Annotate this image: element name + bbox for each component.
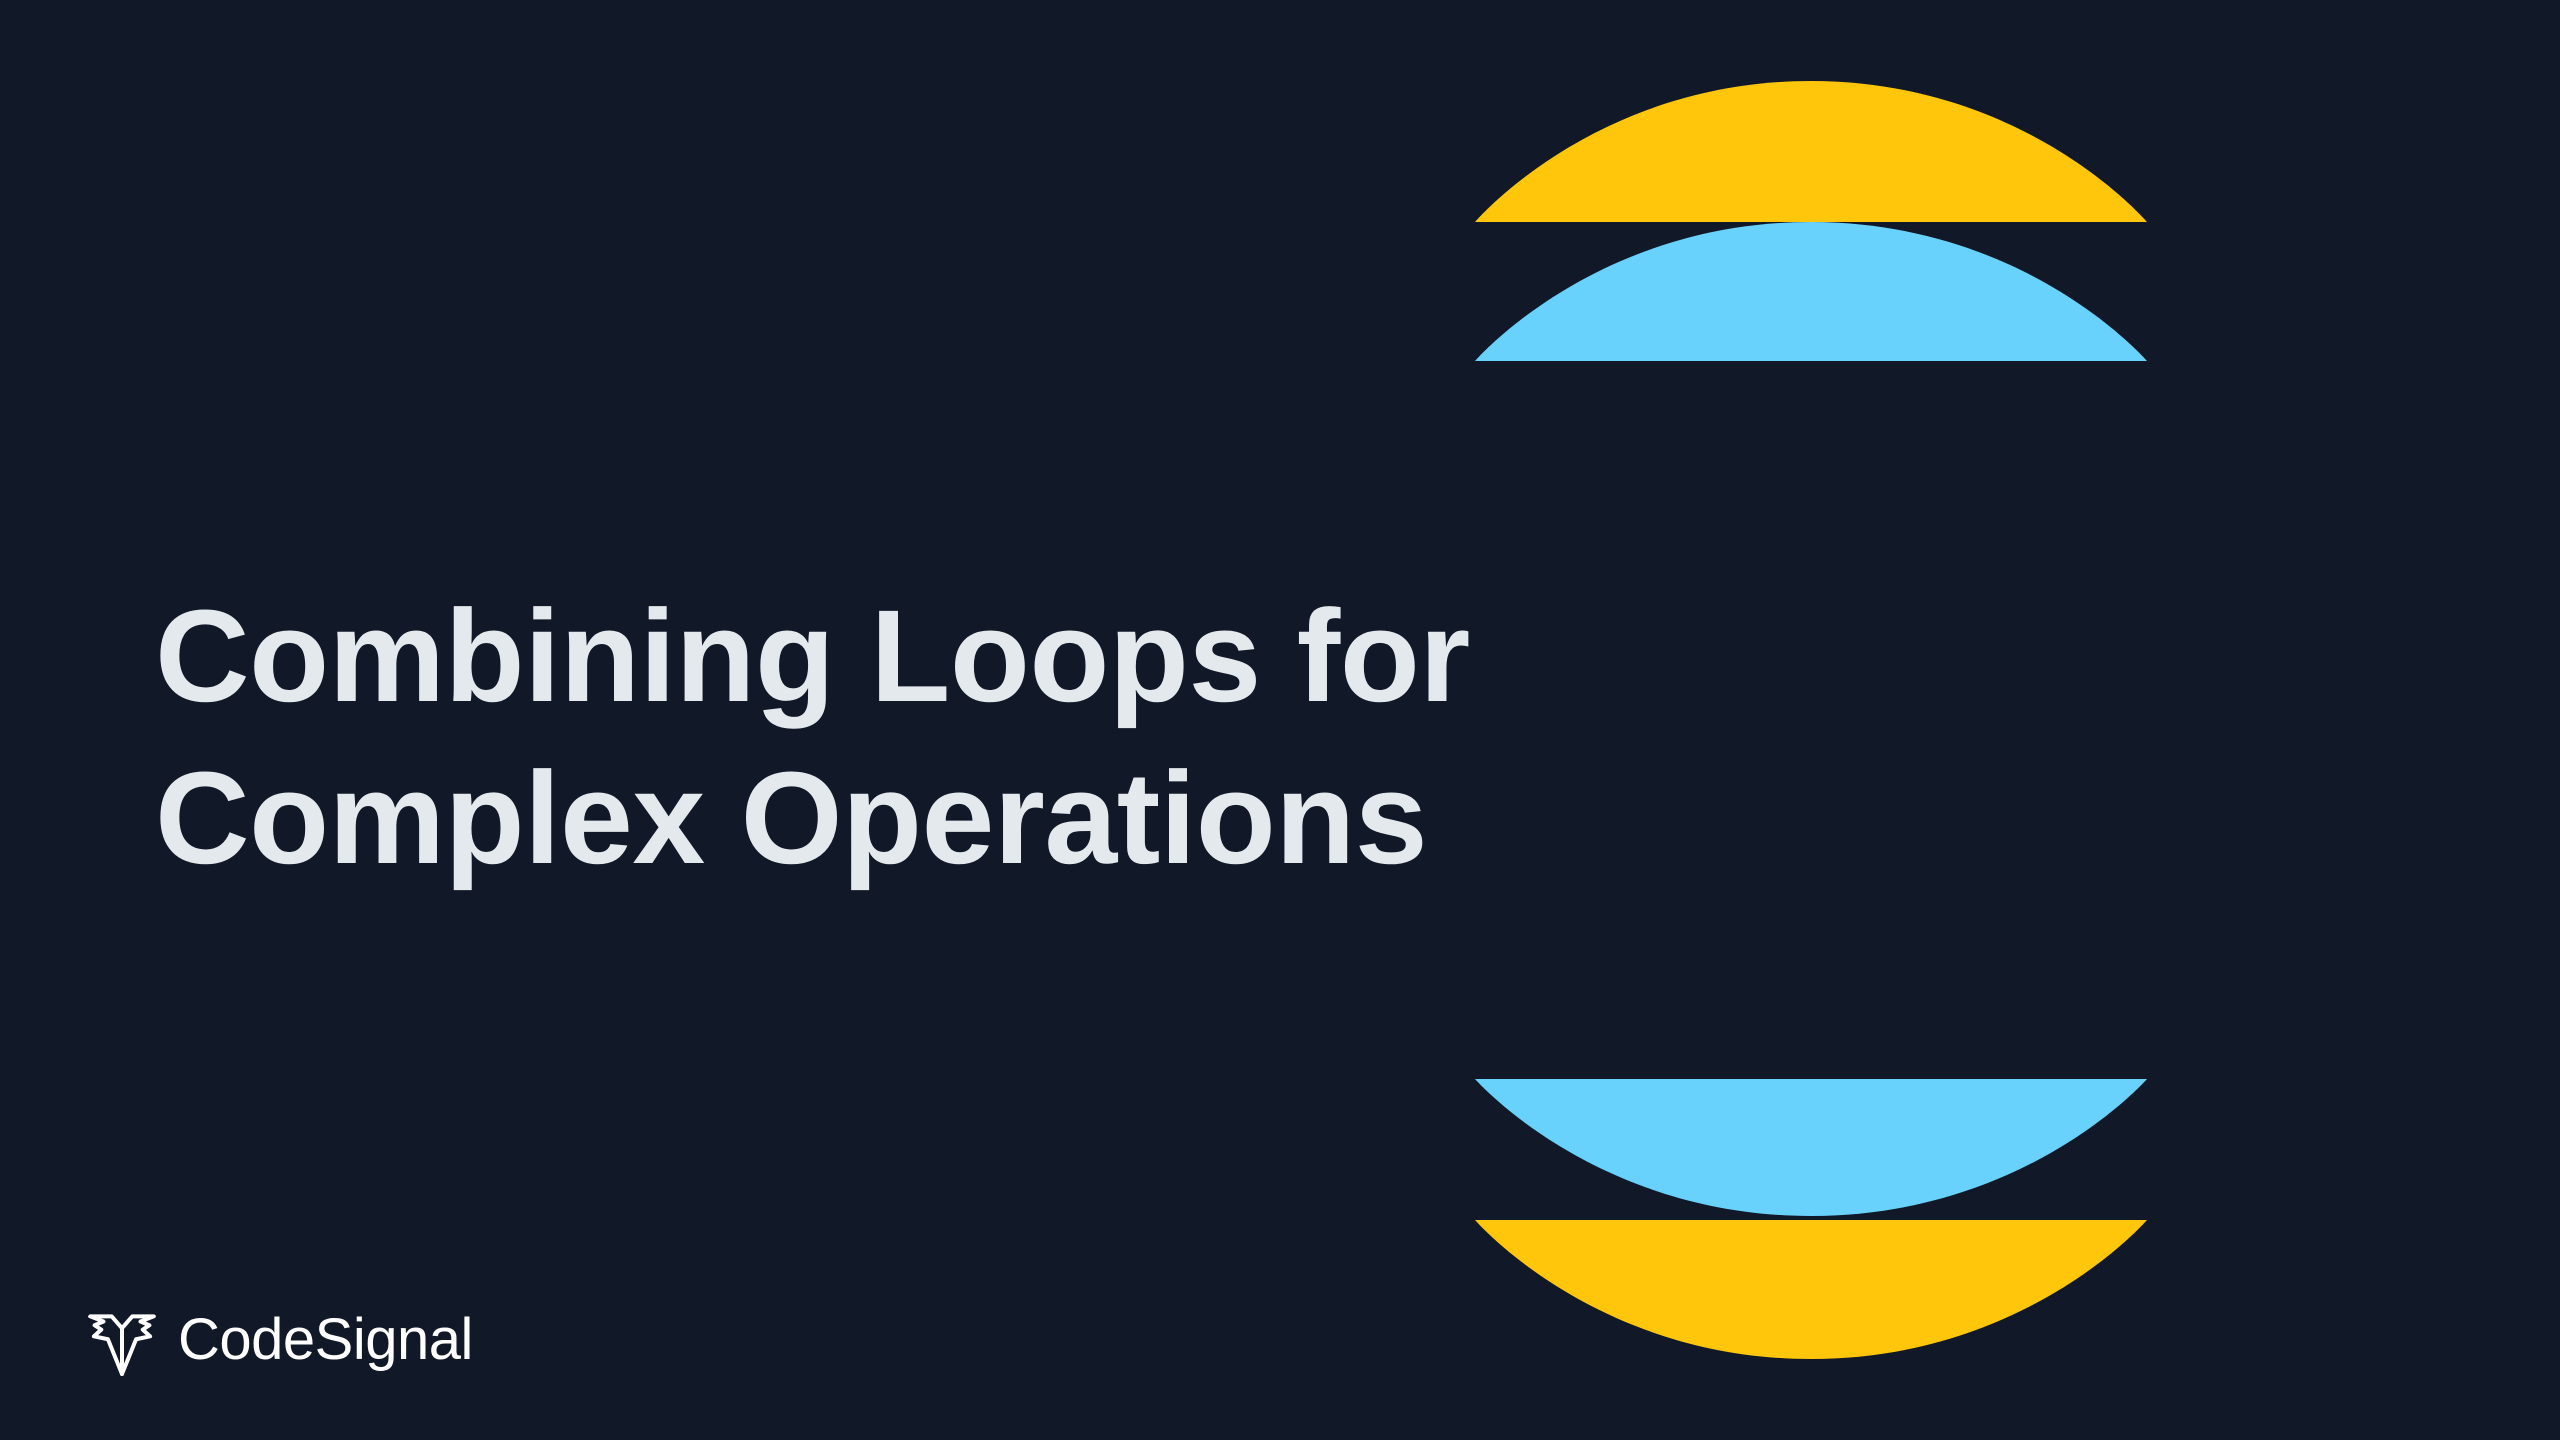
codesignal-wing-icon <box>85 1303 159 1377</box>
title-block: Combining Loops for Complex Operations <box>155 575 2055 900</box>
decoration-top-group <box>1475 81 2147 361</box>
presentation-slide: Combining Loops for Complex Operations C… <box>0 0 2560 1440</box>
brand-logo: CodeSignal <box>85 1297 473 1383</box>
arc-dome-yellow-icon <box>1475 81 2147 222</box>
arc-bowl-yellow-icon <box>1475 1220 2147 1359</box>
arc-dome-blue-icon <box>1475 222 2147 361</box>
page-title: Combining Loops for Complex Operations <box>155 575 2055 900</box>
arc-bowl-blue-icon <box>1475 1079 2147 1216</box>
decoration-bottom-group <box>1475 1079 2147 1359</box>
brand-wordmark: CodeSignal <box>178 1311 473 1369</box>
